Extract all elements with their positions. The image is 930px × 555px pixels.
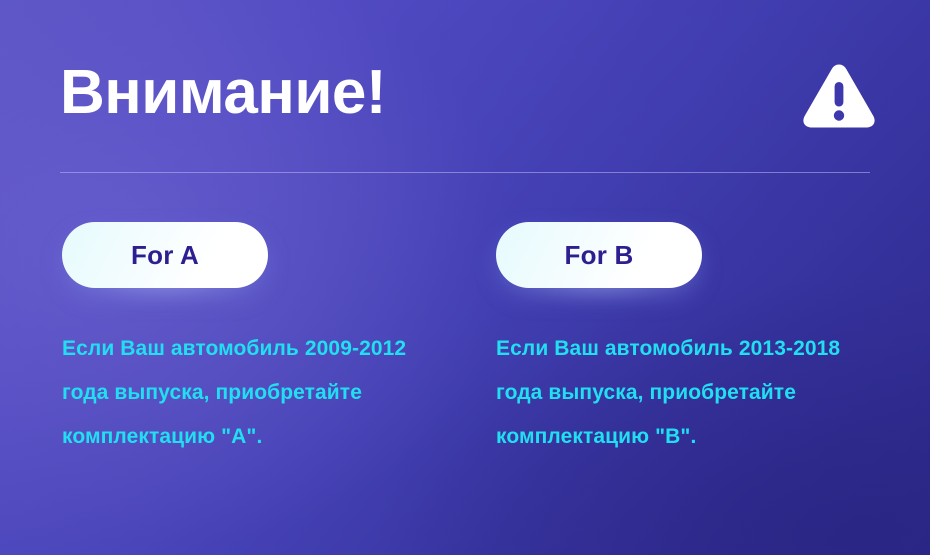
- warning-triangle-icon: [802, 62, 876, 130]
- for-b-button-wrap: For B: [496, 222, 702, 288]
- option-column-b: For B Если Ваш автомобиль 2013-2018 года…: [496, 222, 896, 459]
- for-a-button[interactable]: For A: [62, 222, 268, 288]
- page-title: Внимание!: [60, 57, 386, 129]
- option-a-description: Если Ваш автомобиль 2009-2012 года выпус…: [62, 327, 452, 459]
- option-b-description: Если Ваш автомобиль 2013-2018 года выпус…: [496, 327, 886, 459]
- option-column-a: For A Если Ваш автомобиль 2009-2012 года…: [62, 222, 462, 459]
- attention-banner: Внимание! For A Если Ваш автомобиль 2009…: [0, 0, 930, 555]
- banner-content: Внимание! For A Если Ваш автомобиль 2009…: [0, 0, 930, 555]
- options-row: For A Если Ваш автомобиль 2009-2012 года…: [0, 222, 930, 482]
- for-b-button[interactable]: For B: [496, 222, 702, 288]
- for-a-button-wrap: For A: [62, 222, 268, 288]
- header-divider: [60, 172, 870, 173]
